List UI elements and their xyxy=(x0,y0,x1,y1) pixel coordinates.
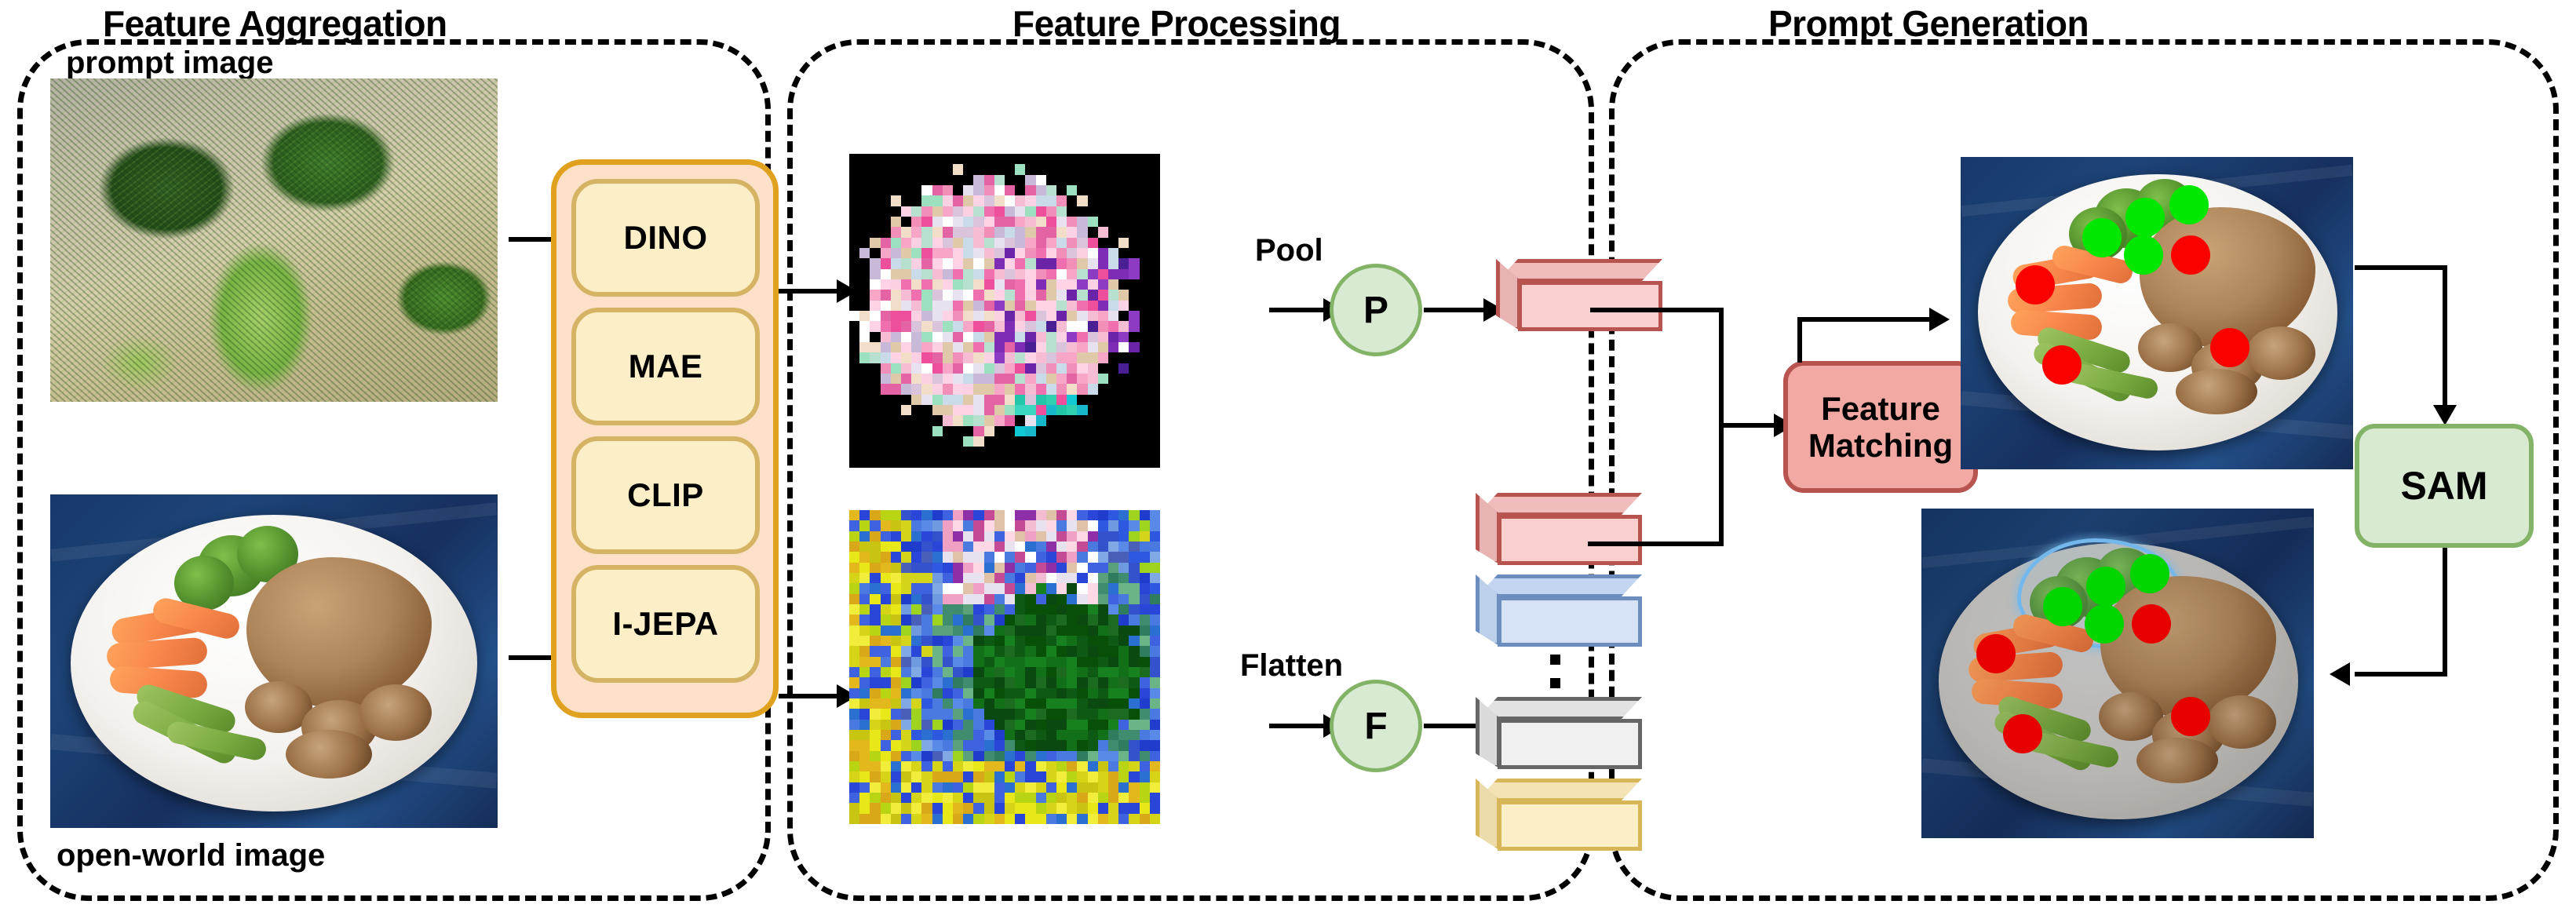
negative-point xyxy=(1976,634,2016,673)
feature-map-open-world xyxy=(849,510,1160,824)
model-box-ijepa[interactable]: I-JEPA xyxy=(571,565,760,683)
merge-line-top xyxy=(1590,308,1724,312)
open-world-image-label: open-world image xyxy=(57,838,325,873)
arrow-agg-to-fmap-bottom-line xyxy=(779,694,840,698)
pool-operation-circle[interactable]: P xyxy=(1330,264,1422,356)
arrow-fmap-to-flatten-line xyxy=(1269,724,1327,728)
sam-block[interactable]: SAM xyxy=(2355,424,2534,548)
positive-point xyxy=(2085,604,2124,644)
flatten-label: Flatten xyxy=(1240,648,1343,684)
feature-matching-label-line2: Matching xyxy=(1808,427,1953,464)
negative-point xyxy=(2016,265,2055,305)
feature-box-pooled xyxy=(1496,259,1662,331)
feature-box-flat-4 xyxy=(1476,779,1642,851)
negative-point xyxy=(2171,697,2210,736)
pool-label: Pool xyxy=(1255,233,1323,268)
arrow-fmap-to-pool-line xyxy=(1269,308,1327,312)
positive-point xyxy=(2082,218,2122,257)
pool-symbol: P xyxy=(1363,289,1388,332)
positive-point xyxy=(2124,235,2163,275)
positive-point xyxy=(2043,587,2082,626)
negative-point xyxy=(2042,345,2082,385)
fm-to-image-vertical xyxy=(1797,317,1802,363)
fm-to-image-horizontal xyxy=(1797,317,1934,322)
feature-box-flat-2 xyxy=(1476,574,1642,647)
feature-box-flat-1 xyxy=(1476,493,1642,565)
flatten-operation-circle[interactable]: F xyxy=(1330,680,1422,772)
section-title-prompt-generation: Prompt Generation xyxy=(1768,2,2089,45)
section-title-feature-processing: Feature Processing xyxy=(1013,2,1341,45)
model-label-clip: CLIP xyxy=(627,476,704,514)
sam-to-image-vertical xyxy=(2443,548,2447,676)
feature-map-prompt xyxy=(849,154,1160,468)
sam-to-image-arrow-head xyxy=(2330,662,2350,686)
model-label-dino: DINO xyxy=(624,219,708,257)
negative-point xyxy=(2171,235,2210,275)
image-to-sam-arrow-head xyxy=(2433,405,2457,425)
feature-matching-block[interactable]: Feature Matching xyxy=(1783,361,1978,493)
positive-point xyxy=(2125,198,2165,237)
prompt-image-label: prompt image xyxy=(66,46,273,81)
model-label-ijepa: I-JEPA xyxy=(612,605,718,643)
sam-label: SAM xyxy=(2400,464,2487,508)
image-to-sam-horizontal xyxy=(2355,265,2447,270)
flatten-symbol: F xyxy=(1364,705,1387,748)
negative-point xyxy=(2003,714,2042,753)
negative-point xyxy=(2132,604,2171,644)
feature-matching-label-line1: Feature xyxy=(1821,390,1940,427)
segmentation-result-image xyxy=(1921,509,2314,838)
image-to-sam-vertical xyxy=(2443,265,2447,411)
model-label-mae: MAE xyxy=(629,348,703,385)
sam-to-image-horizontal xyxy=(2355,672,2447,676)
pipeline-diagram: Feature Aggregation Feature Processing P… xyxy=(0,0,2576,919)
fm-to-image-arrow-head xyxy=(1929,308,1950,331)
positive-point xyxy=(2086,567,2125,606)
prompt-image-photo xyxy=(50,78,498,402)
model-box-mae[interactable]: MAE xyxy=(571,308,760,425)
arrow-pool-to-box-line xyxy=(1424,308,1487,312)
merge-line-to-fm xyxy=(1719,423,1779,428)
open-world-image-photo xyxy=(50,494,498,828)
negative-point xyxy=(2210,328,2249,367)
arrow-agg-to-fmap-top-line xyxy=(779,289,840,294)
positive-point xyxy=(2130,554,2169,593)
positive-point xyxy=(2169,185,2209,224)
model-box-dino[interactable]: DINO xyxy=(571,179,760,297)
model-box-clip[interactable]: CLIP xyxy=(571,436,760,554)
feature-box-flat-3 xyxy=(1476,697,1642,769)
section-title-feature-aggregation: Feature Aggregation xyxy=(103,2,447,45)
prompt-points-image xyxy=(1961,157,2353,469)
merge-line-bottom xyxy=(1588,542,1724,546)
